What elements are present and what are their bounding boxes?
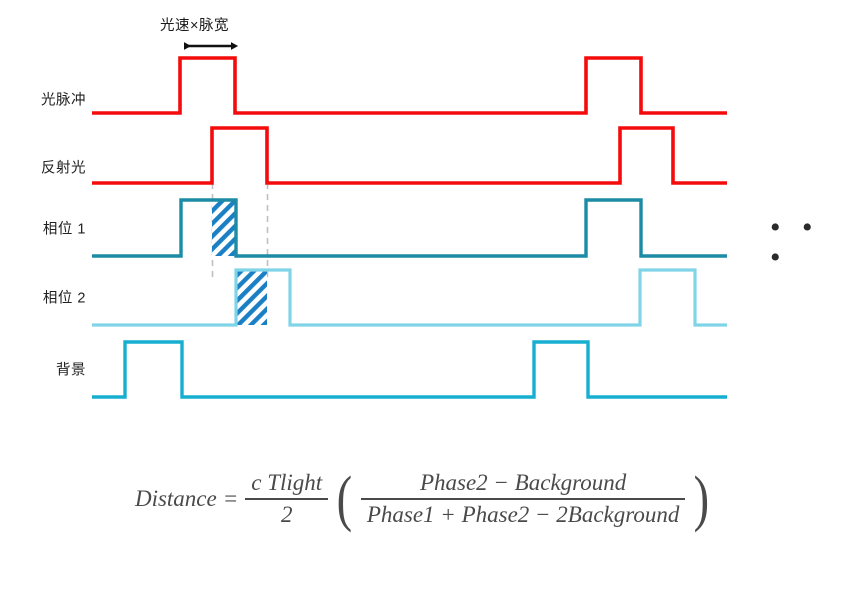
continuation-ellipsis: • • • [770, 213, 846, 273]
waveform-phase-1 [92, 200, 727, 256]
waveform-phase-2 [92, 270, 727, 325]
formula-equals: = [223, 486, 239, 512]
phase-2-hatched-area [236, 270, 267, 325]
waveform-light-pulse [92, 58, 727, 113]
formula-right-fraction: Phase2 − Background Phase1 + Phase2 − 2B… [361, 470, 686, 528]
formula-close-paren: ) [694, 475, 709, 523]
formula-left-denominator: 2 [275, 500, 299, 528]
waveform-reflected-light [92, 128, 727, 183]
tof-waveform-diagram: 光速×脉宽 光脉冲 反射光 相位 1 相位 2 背景 • • • Distanc… [0, 0, 846, 600]
phase-1-hatched-area [212, 200, 236, 256]
formula-lhs: Distance [135, 486, 217, 512]
formula-right-denominator: Phase1 + Phase2 − 2Background [361, 500, 686, 528]
formula-right-numerator: Phase2 − Background [414, 470, 632, 498]
formula-open-paren: ( [337, 475, 352, 523]
row-label-reflected-light: 反射光 [0, 157, 86, 178]
formula-left-fraction: c Tlight 2 [245, 470, 328, 528]
formula-left-numerator: c Tlight [245, 470, 328, 498]
row-label-light-pulse: 光脉冲 [0, 89, 86, 110]
waveform-background [92, 342, 727, 397]
row-label-phase-1: 相位 1 [0, 218, 86, 239]
row-label-phase-2: 相位 2 [0, 287, 86, 308]
pulse-width-caption: 光速×脉宽 [160, 14, 229, 35]
distance-formula: Distance = c Tlight 2 ( Phase2 − Backgro… [0, 470, 846, 528]
row-label-background: 背景 [0, 359, 86, 380]
